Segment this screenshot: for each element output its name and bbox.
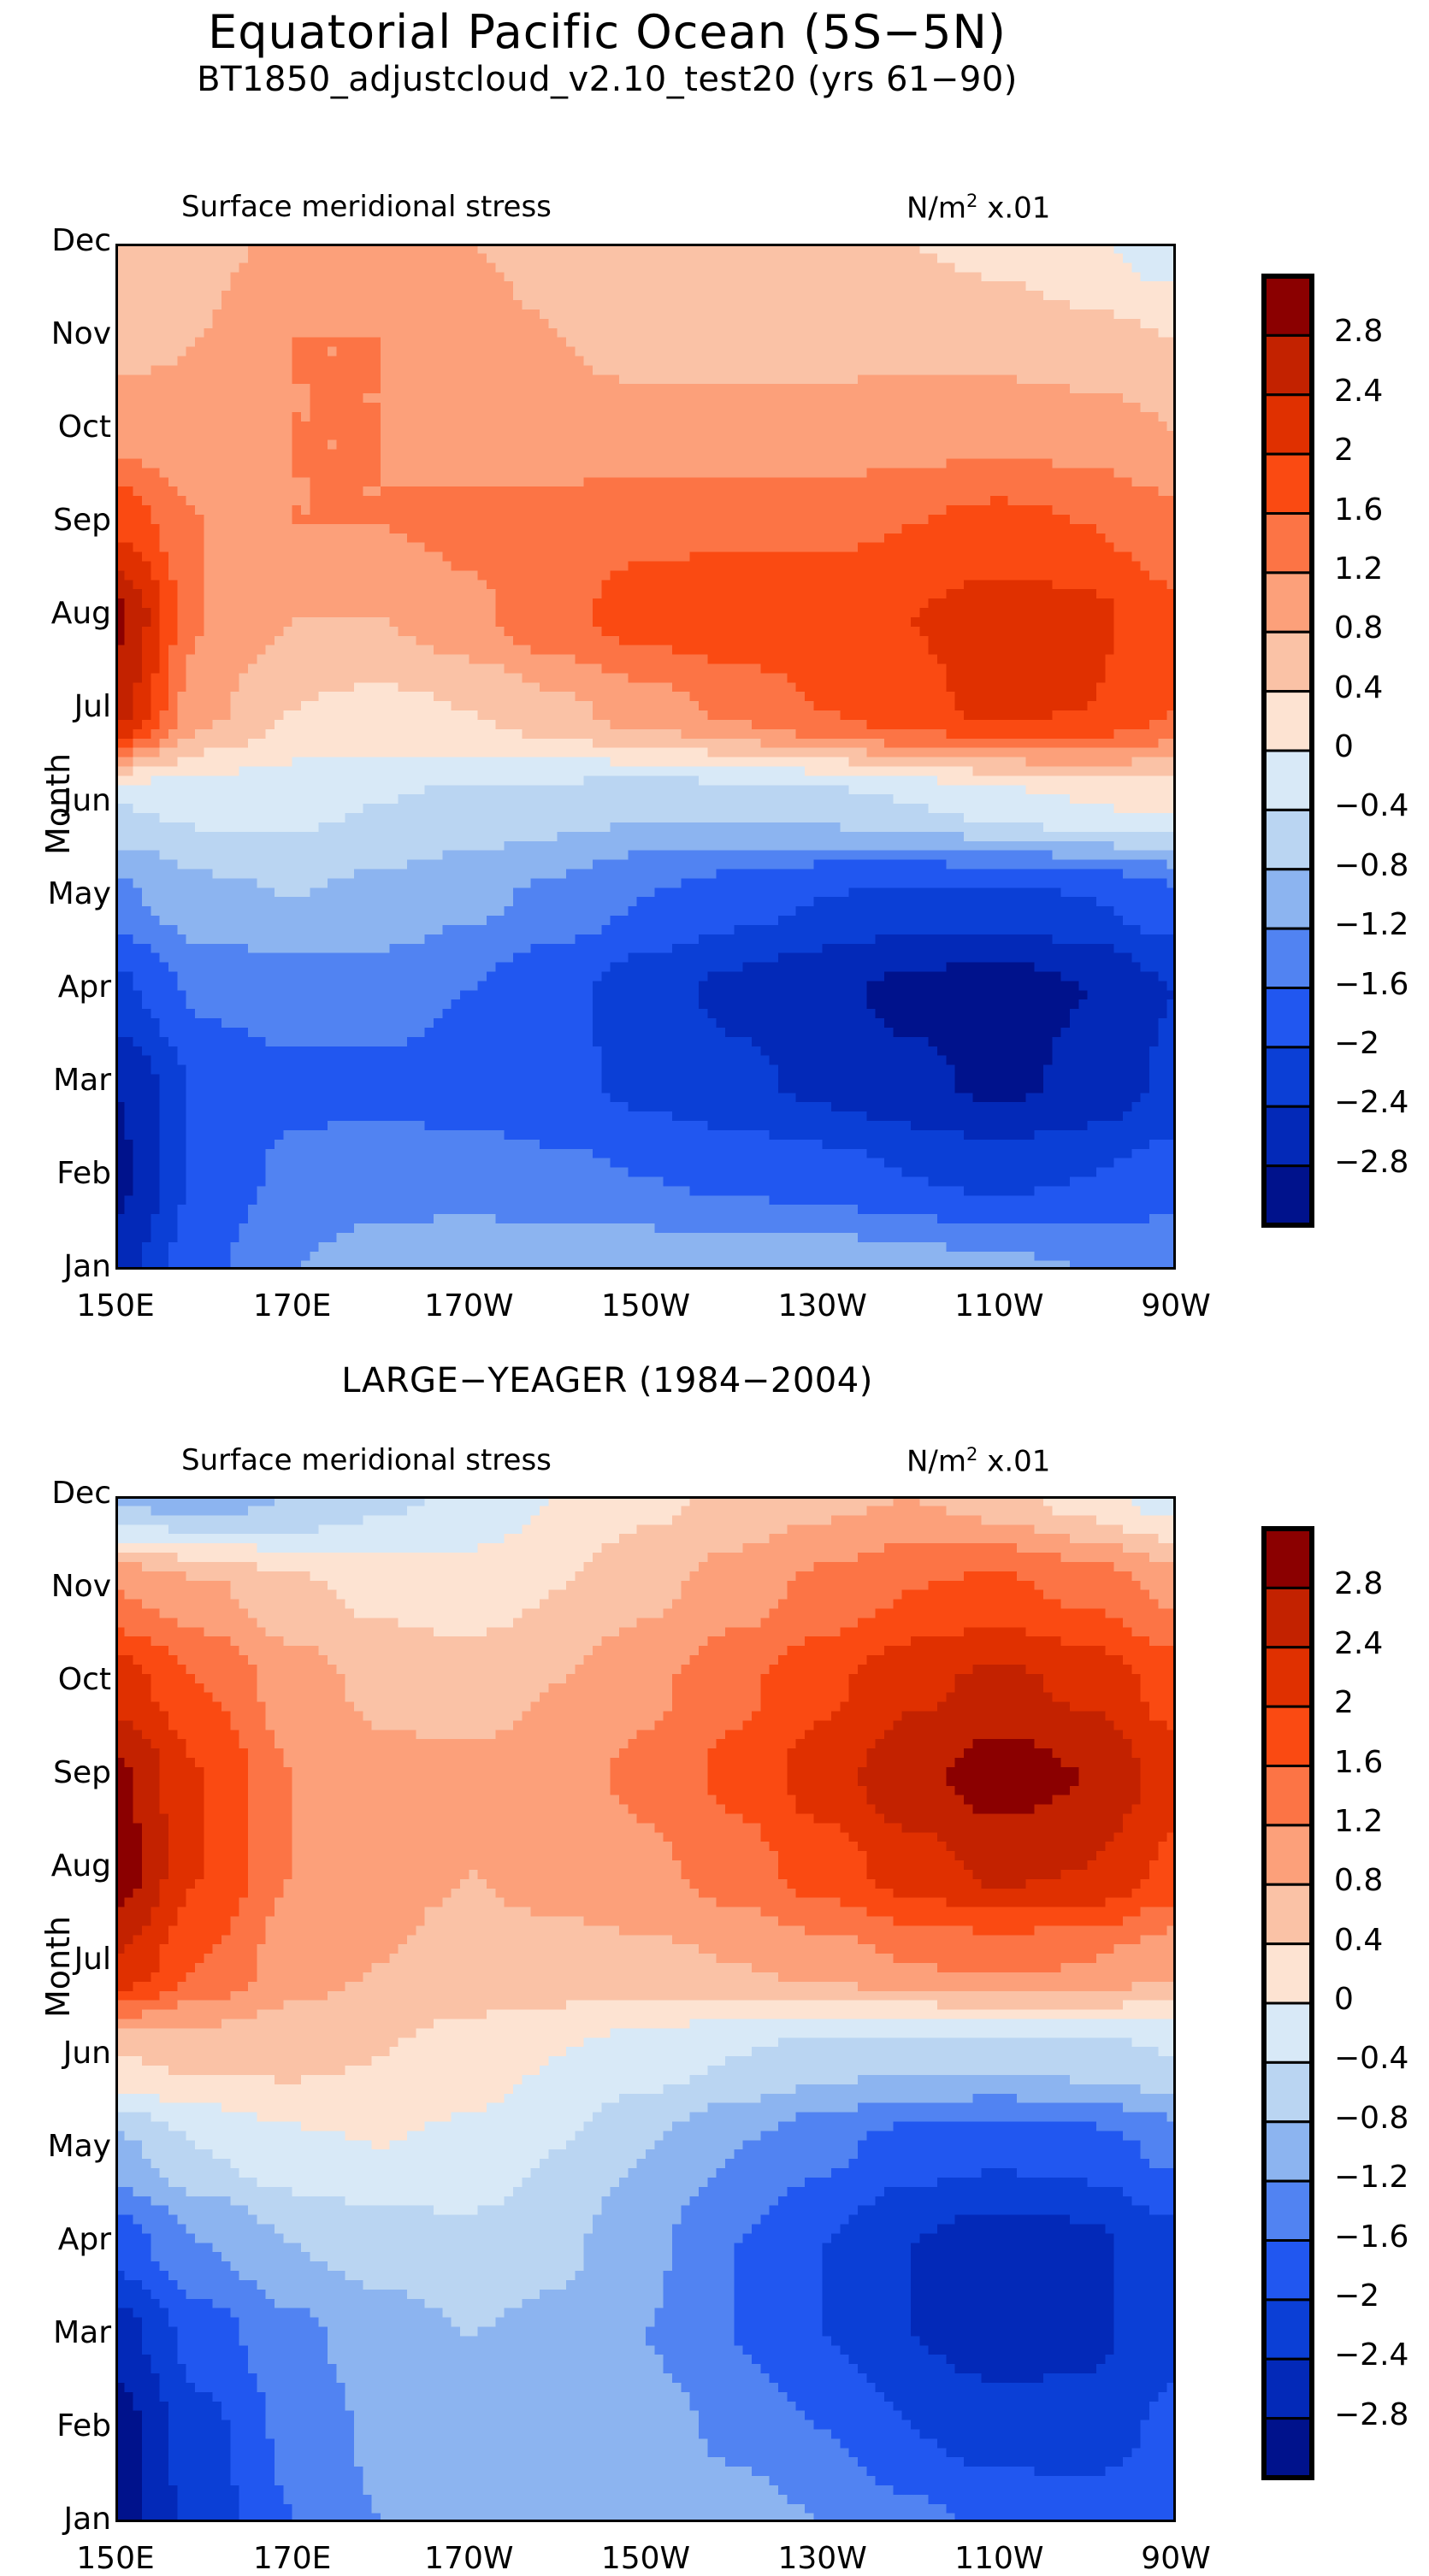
panel1-header-left: Surface meridional stress xyxy=(181,190,552,224)
panel1-xtick-150w: 150W xyxy=(582,1288,710,1323)
panel2-colorbar-label-8: −0.4 xyxy=(1334,2041,1408,2076)
panel1-ytick-jun: Jun xyxy=(0,783,111,818)
panel2-colorbar-label-9: −0.8 xyxy=(1334,2101,1408,2136)
panel2-colorbar-label-6: 0.4 xyxy=(1334,1923,1383,1958)
panel1-ytick-sep: Sep xyxy=(0,503,111,538)
panel2-ytick-mar: Mar xyxy=(0,2315,111,2350)
panel2-colorbar-label-11: −1.6 xyxy=(1334,2219,1408,2255)
panel2-contour-plot xyxy=(115,1496,1176,2522)
panel1-xtick-130w: 130W xyxy=(759,1288,887,1323)
panel2-header-right: N/m2 x.01 xyxy=(906,1443,1050,1478)
panel1-colorbar-label-5: 0.8 xyxy=(1334,610,1383,645)
panel2-header-left: Surface meridional stress xyxy=(181,1443,552,1477)
panel1-colorbar-label-4: 1.2 xyxy=(1334,551,1383,587)
panel1-ytick-jan: Jan xyxy=(0,1249,111,1284)
panel2-ytick-aug: Aug xyxy=(0,1848,111,1883)
panel1-ytick-may: May xyxy=(0,876,111,911)
panel1-colorbar-label-9: −0.8 xyxy=(1334,848,1408,883)
panel2-ytick-apr: Apr xyxy=(0,2222,111,2257)
panel1-colorbar-label-10: −1.2 xyxy=(1334,907,1408,942)
panel2-ytick-nov: Nov xyxy=(0,1569,111,1604)
panel2-colorbar-label-1: 2.4 xyxy=(1334,1626,1383,1661)
panel2-xtick-150w: 150W xyxy=(582,2541,710,2576)
panel1-colorbar-label-11: −1.6 xyxy=(1334,967,1408,1002)
panel2-xtick-90w: 90W xyxy=(1112,2541,1240,2576)
panel2-colorbar-label-10: −1.2 xyxy=(1334,2160,1408,2195)
panel2-ytick-jul: Jul xyxy=(0,1942,111,1977)
panel1-colorbar-label-1: 2.4 xyxy=(1334,374,1383,409)
panel1-colorbar-label-13: −2.4 xyxy=(1334,1085,1408,1120)
panel1-title: BT1850_adjustcloud_v2.10_test20 (yrs 61−… xyxy=(0,60,1214,99)
panel1-ytick-aug: Aug xyxy=(0,596,111,631)
panel2-colorbar-label-5: 0.8 xyxy=(1334,1863,1383,1898)
panel2-title: LARGE−YEAGER (1984−2004) xyxy=(0,1361,1214,1400)
panel2-xtick-150e: 150E xyxy=(51,2541,180,2576)
panel1-colorbar-label-6: 0.4 xyxy=(1334,670,1383,705)
panel1-ytick-feb: Feb xyxy=(0,1156,111,1191)
panel2-xtick-130w: 130W xyxy=(759,2541,887,2576)
panel1-ytick-nov: Nov xyxy=(0,316,111,351)
panel1-xtick-90w: 90W xyxy=(1112,1288,1240,1323)
panel2-ytick-may: May xyxy=(0,2129,111,2164)
panel2-ytick-jun: Jun xyxy=(0,2036,111,2071)
panel2-colorbar-label-4: 1.2 xyxy=(1334,1804,1383,1839)
panel2-ytick-oct: Oct xyxy=(0,1662,111,1697)
panel2-colorbar-label-14: −2.8 xyxy=(1334,2397,1408,2432)
panel1-colorbar-label-14: −2.8 xyxy=(1334,1145,1408,1180)
panel1-colorbar-label-3: 1.6 xyxy=(1334,492,1383,528)
panel2-ytick-feb: Feb xyxy=(0,2408,111,2443)
panel1-xtick-150e: 150E xyxy=(51,1288,180,1323)
panel2-colorbar-label-0: 2.8 xyxy=(1334,1566,1383,1601)
panel1-ytick-dec: Dec xyxy=(0,223,111,258)
panel2-colorbar-label-12: −2 xyxy=(1334,2278,1379,2314)
panel1-xtick-170w: 170W xyxy=(404,1288,533,1323)
panel2-ytick-jan: Jan xyxy=(0,2502,111,2537)
panel1-colorbar-label-0: 2.8 xyxy=(1334,314,1383,349)
panel2-colorbar-label-7: 0 xyxy=(1334,1982,1354,2017)
panel1-xtick-110w: 110W xyxy=(935,1288,1063,1323)
panel1-ytick-oct: Oct xyxy=(0,410,111,445)
panel1-ytick-apr: Apr xyxy=(0,970,111,1005)
panel1-ytick-mar: Mar xyxy=(0,1063,111,1098)
panel1-colorbar-label-7: 0 xyxy=(1334,729,1354,764)
main-title: Equatorial Pacific Ocean (5S−5N) xyxy=(0,5,1214,59)
figure-root: Equatorial Pacific Ocean (5S−5N) BT1850_… xyxy=(0,0,1429,2575)
panel2-colorbar-label-13: −2.4 xyxy=(1334,2337,1408,2373)
panel2-xtick-110w: 110W xyxy=(935,2541,1063,2576)
panel2-ytick-dec: Dec xyxy=(0,1476,111,1511)
panel1-colorbar-label-8: −0.4 xyxy=(1334,788,1408,823)
panel2-xtick-170w: 170W xyxy=(404,2541,533,2576)
panel1-colorbar-label-12: −2 xyxy=(1334,1026,1379,1061)
panel1-header-right: N/m2 x.01 xyxy=(906,190,1050,225)
panel1-xtick-170e: 170E xyxy=(228,1288,357,1323)
panel1-colorbar-label-2: 2 xyxy=(1334,433,1354,468)
panel1-ytick-jul: Jul xyxy=(0,689,111,724)
panel2-xtick-170e: 170E xyxy=(228,2541,357,2576)
panel2-colorbar-label-3: 1.6 xyxy=(1334,1745,1383,1780)
panel1-contour-plot xyxy=(115,244,1176,1270)
panel2-ytick-sep: Sep xyxy=(0,1755,111,1790)
panel2-colorbar-label-2: 2 xyxy=(1334,1685,1354,1720)
